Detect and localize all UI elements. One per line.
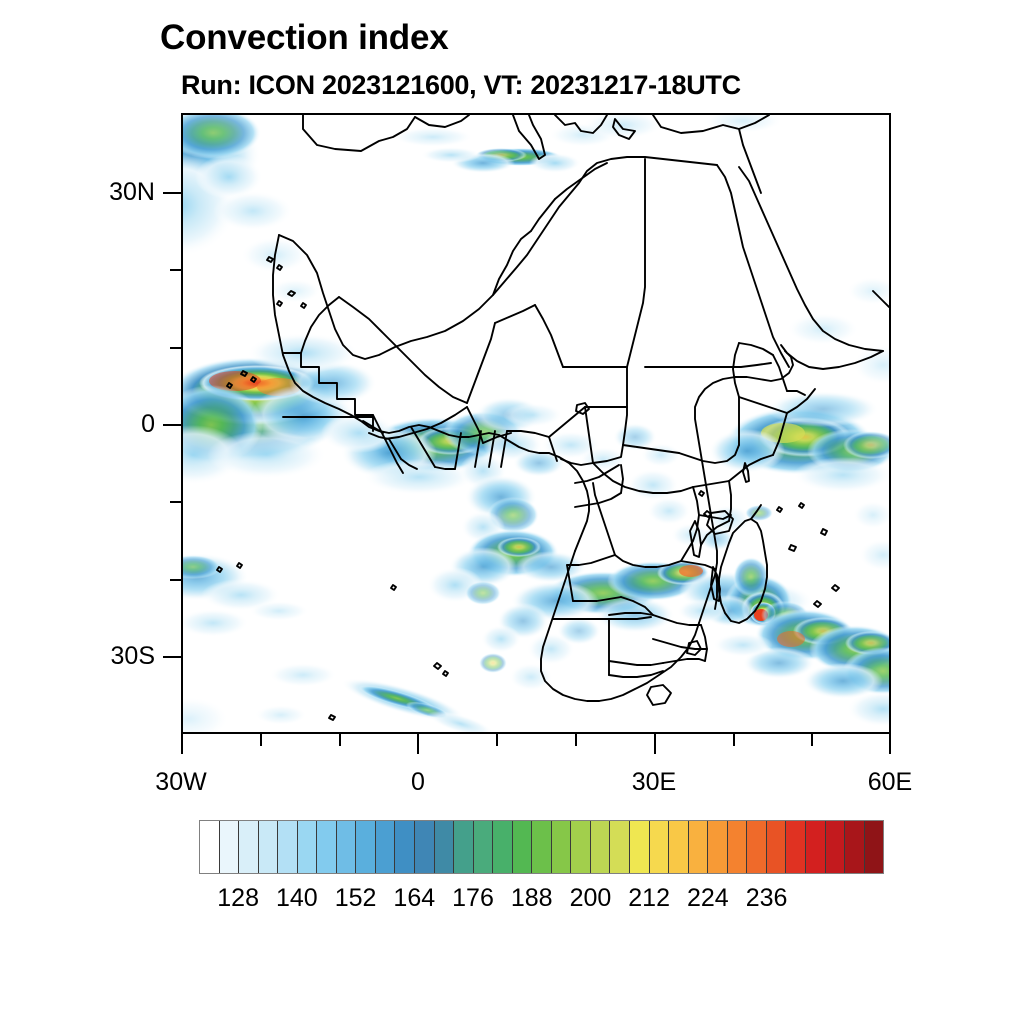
- colorbar-cell: [747, 821, 767, 873]
- y-minor-tick-10s: [170, 501, 181, 503]
- x-minor-tick-50e: [811, 734, 813, 746]
- colorbar-cell: [669, 821, 689, 873]
- page-title: Convection index: [160, 18, 449, 58]
- x-label-30w: 30W: [131, 768, 231, 797]
- colorbar-cell: [865, 821, 884, 873]
- weather-map-figure: Convection index Run: ICON 2023121600, V…: [0, 0, 1024, 1024]
- colorbar-cell: [650, 821, 670, 873]
- colorbar-cell: [278, 821, 298, 873]
- colorbar-cell: [591, 821, 611, 873]
- colorbar-cell: [317, 821, 337, 873]
- colorbar[interactable]: [199, 820, 884, 874]
- y-tick-0: [163, 424, 181, 426]
- colorbar-cell: [200, 821, 220, 873]
- colorbar-cell: [610, 821, 630, 873]
- x-minor-tick-10e: [496, 734, 498, 746]
- run-valid-time-subtitle: Run: ICON 2023121600, VT: 20231217-18UTC: [181, 70, 741, 101]
- colorbar-cell: [826, 821, 846, 873]
- colorbar-cell: [220, 821, 240, 873]
- colorbar-cell: [356, 821, 376, 873]
- y-label-30n: 30N: [40, 178, 155, 207]
- y-label-30s: 30S: [40, 642, 155, 671]
- colorbar-cell: [513, 821, 533, 873]
- x-tick-60e: [889, 734, 891, 754]
- colorbar-cell: [493, 821, 513, 873]
- x-label-30e: 30E: [604, 768, 704, 797]
- y-tick-30s: [163, 656, 181, 658]
- colorbar-cell: [845, 821, 865, 873]
- colorbar-cell: [767, 821, 787, 873]
- x-minor-tick-20e: [575, 734, 577, 746]
- colorbar-cell: [435, 821, 455, 873]
- y-label-0: 0: [40, 410, 155, 439]
- x-tick-30e: [654, 734, 656, 754]
- x-label-0: 0: [368, 768, 468, 797]
- y-tick-30n: [163, 192, 181, 194]
- x-label-60e: 60E: [840, 768, 940, 797]
- colorbar-cell: [728, 821, 748, 873]
- y-minor-tick-20s: [170, 579, 181, 581]
- x-tick-0: [417, 734, 419, 754]
- colorbar-cell: [689, 821, 709, 873]
- colorbar-cell: [532, 821, 552, 873]
- x-minor-tick-20w: [260, 734, 262, 746]
- y-minor-tick-10n: [170, 347, 181, 349]
- map-canvas: [183, 115, 889, 732]
- colorbar-cell: [239, 821, 259, 873]
- colorbar-cell: [571, 821, 591, 873]
- x-minor-tick-40e: [733, 734, 735, 746]
- colorbar-cell: [298, 821, 318, 873]
- x-minor-tick-10w: [339, 734, 341, 746]
- map-graphic: [183, 115, 889, 732]
- colorbar-cell: [415, 821, 435, 873]
- y-minor-tick-20n: [170, 269, 181, 271]
- colorbar-cell: [395, 821, 415, 873]
- colorbar-cell: [552, 821, 572, 873]
- colorbar-cell: [337, 821, 357, 873]
- colorbar-cell: [630, 821, 650, 873]
- colorbar-cell: [259, 821, 279, 873]
- colorbar-cell: [376, 821, 396, 873]
- colorbar-cell: [806, 821, 826, 873]
- colorbar-tick-label: 236: [727, 884, 807, 913]
- colorbar-cell: [454, 821, 474, 873]
- x-tick-30w: [181, 734, 183, 754]
- colorbar-cell: [474, 821, 494, 873]
- map-plot-area[interactable]: [181, 113, 891, 734]
- colorbar-cell: [708, 821, 728, 873]
- colorbar-cell: [786, 821, 806, 873]
